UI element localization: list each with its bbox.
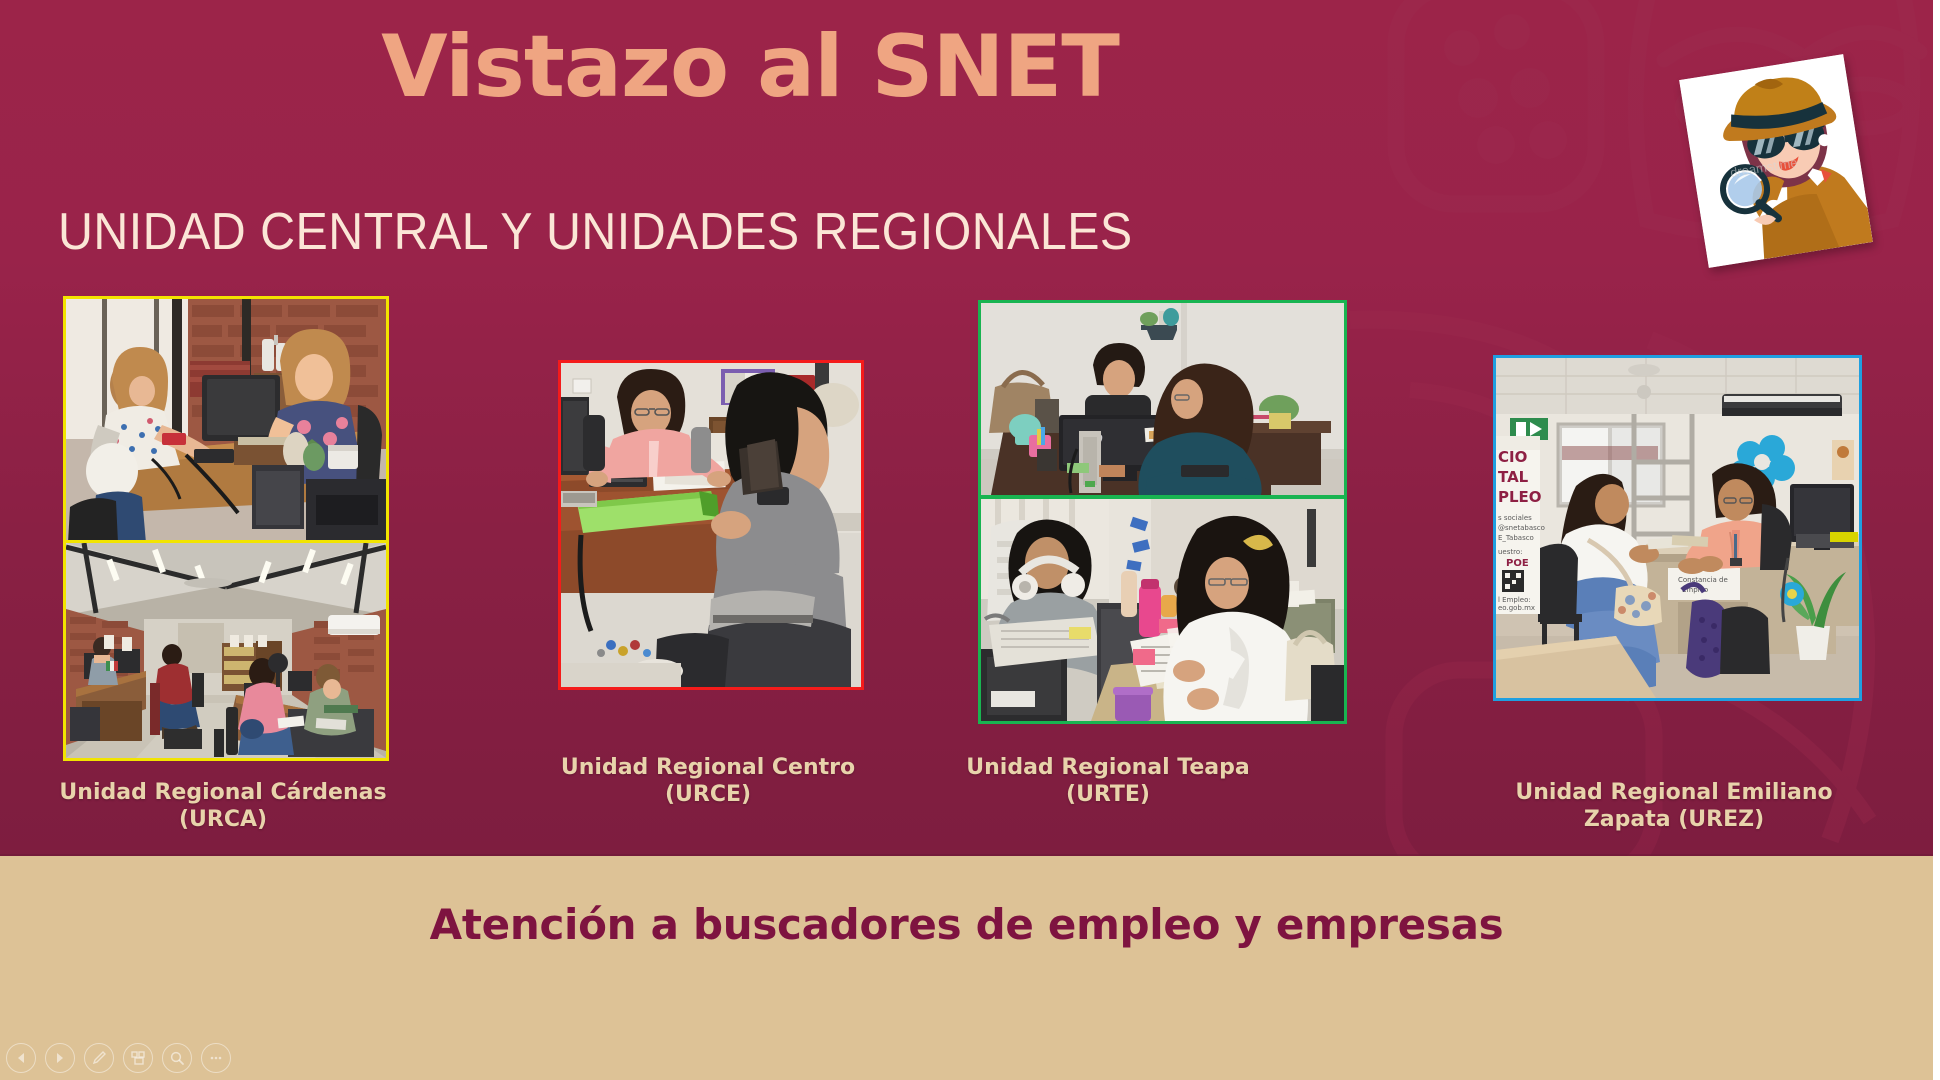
svg-text:CIO: CIO: [1498, 448, 1527, 466]
urce-caption-line2: (URCE): [518, 782, 898, 809]
svg-text:eo.gob.mx: eo.gob.mx: [1498, 604, 1535, 612]
presentation-slide: Vistazo al SNET UNIDAD CENTRAL Y UNIDADE…: [0, 0, 1933, 1080]
urez-caption-line1: Unidad Regional Emiliano: [1484, 780, 1864, 807]
detective-woman-magnifier-sticker: dreamstime: [1679, 54, 1873, 268]
previous-slide-button[interactable]: [6, 1043, 36, 1073]
svg-text:uestro:: uestro:: [1498, 548, 1523, 556]
urte-caption-line1: Unidad Regional Teapa: [898, 755, 1318, 782]
urez-caption: Unidad Regional Emiliano Zapata (UREZ): [1484, 780, 1864, 834]
urca-caption-line1: Unidad Regional Cárdenas: [33, 780, 413, 807]
next-slide-button[interactable]: [45, 1043, 75, 1073]
urca-caption: Unidad Regional Cárdenas (URCA): [33, 780, 413, 834]
more-options-button[interactable]: [201, 1043, 231, 1073]
presentation-toolbar: [6, 1043, 231, 1073]
urte-photo-top: hp: [978, 300, 1347, 498]
svg-text:@snetabasco: @snetabasco: [1498, 524, 1545, 532]
urca-photo-bottom: [63, 540, 389, 761]
pen-annotate-button[interactable]: [84, 1043, 114, 1073]
svg-text:TAL: TAL: [1498, 468, 1529, 486]
urte-photo-bottom: [978, 496, 1347, 724]
urca-photo-top: [63, 296, 389, 546]
svg-text:E_Tabasco: E_Tabasco: [1498, 534, 1534, 542]
urce-photo: [558, 360, 864, 690]
svg-text:POE: POE: [1506, 558, 1529, 569]
urca-caption-line2: (URCA): [33, 807, 413, 834]
svg-text:PLEO: PLEO: [1498, 488, 1542, 506]
slide-subtitle: UNIDAD CENTRAL Y UNIDADES REGIONALES: [58, 202, 1133, 262]
svg-text:l Empleo:: l Empleo:: [1498, 596, 1531, 604]
urce-caption-line1: Unidad Regional Centro: [518, 755, 898, 782]
svg-text:s sociales: s sociales: [1498, 514, 1532, 522]
urez-photo: CIO TAL PLEO s sociales @snetabasco E_Ta…: [1493, 355, 1862, 701]
urce-caption: Unidad Regional Centro (URCE): [518, 755, 898, 809]
zoom-button[interactable]: [162, 1043, 192, 1073]
slide-overview-button[interactable]: [123, 1043, 153, 1073]
svg-text:Constancia de: Constancia de: [1678, 576, 1728, 584]
urez-caption-line2: Zapata (UREZ): [1484, 807, 1864, 834]
urte-caption-line2: (URTE): [898, 782, 1318, 809]
urte-caption: Unidad Regional Teapa (URTE): [898, 755, 1318, 809]
slide-background-bottom: [0, 856, 1933, 1080]
bottom-caption: Atención a buscadores de empleo y empres…: [0, 900, 1933, 949]
slide-title: Vistazo al SNET: [0, 22, 1500, 112]
